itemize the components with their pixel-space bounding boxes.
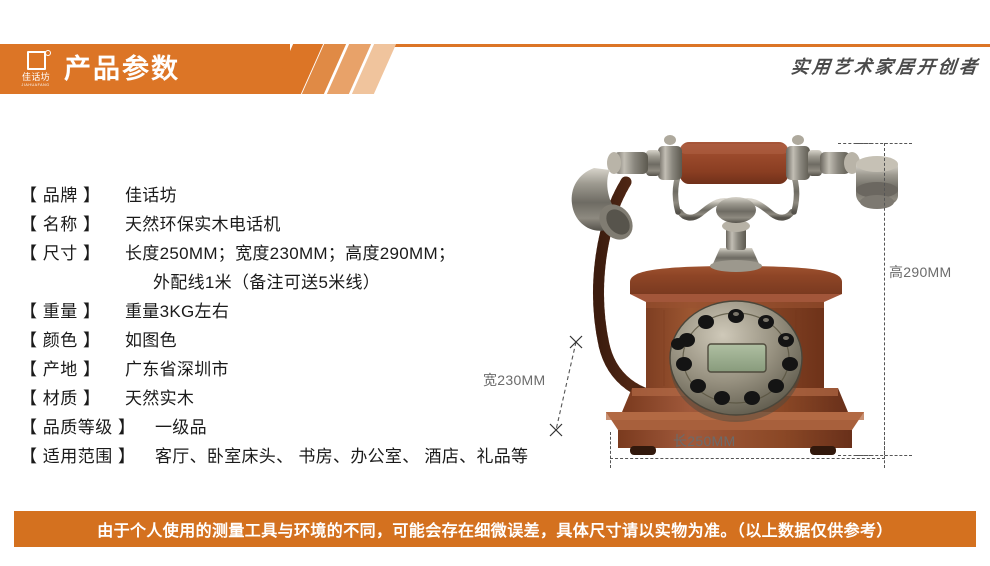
spec-value: 广东省深圳市	[125, 355, 229, 384]
spec-row: 【 名称 】天然环保实木电话机	[20, 210, 580, 239]
spec-value: 一级品	[155, 413, 207, 442]
spec-value: 重量3KG左右	[125, 297, 229, 326]
footer-notice-text: 由于个人使用的测量工具与环境的不同，可能会存在细微误差，具体尺寸请以实物为准。（…	[97, 517, 893, 541]
telephone-dial	[670, 301, 802, 422]
spec-value: 佳话坊	[125, 181, 177, 210]
brand-slogan: 实用艺术家居开创者	[790, 56, 981, 78]
height-dimension-line	[884, 143, 885, 455]
spec-label: 【 重量 】	[20, 297, 125, 326]
spec-row: 【 尺寸 】长度250MM；宽度230MM；高度290MM；	[20, 239, 580, 268]
spec-value: 天然环保实木电话机	[125, 210, 281, 239]
spec-row: 【 品牌 】佳话坊	[20, 181, 580, 210]
height-dimension-label: 高290MM	[889, 262, 951, 282]
logo-chinese-name: 佳话坊	[22, 72, 50, 82]
spec-label: 【 材质 】	[20, 384, 125, 413]
footer-notice-banner: 由于个人使用的测量工具与环境的不同，可能会存在细微误差，具体尺寸请以实物为准。（…	[14, 511, 976, 547]
lcd-display	[708, 344, 766, 372]
spec-label: 【 产地 】	[20, 355, 125, 384]
spec-row: 外配线1米（备注可送5米线）	[20, 268, 580, 297]
spec-value: 如图色	[125, 326, 177, 355]
spec-value: 长度250MM；宽度230MM；高度290MM；	[125, 239, 455, 268]
registered-mark-icon	[45, 50, 51, 56]
length-dimension-label: 长250MM	[673, 431, 735, 451]
width-dimension-label: 宽230MM	[483, 370, 545, 390]
spec-value: 外配线1米（备注可送5米线）	[153, 268, 380, 297]
spec-label: 【 适用范围 】	[20, 442, 155, 471]
spec-label: 【 品质等级 】	[20, 413, 155, 442]
spec-value: 天然实木	[125, 384, 194, 413]
height-bottom-leader	[838, 455, 872, 456]
specification-list: 【 品牌 】佳话坊【 名称 】天然环保实木电话机【 尺寸 】长度250MM；宽度…	[20, 181, 580, 471]
spec-row: 【 重量 】重量3KG左右	[20, 297, 580, 326]
spec-label: 【 名称 】	[20, 210, 125, 239]
spec-row: 【 适用范围 】客厅、卧室床头、 书房、办公室、 酒店、礼品等	[20, 442, 580, 471]
spec-label: 【 尺寸 】	[20, 239, 125, 268]
logo-square-icon	[27, 51, 46, 70]
length-right-tick	[884, 432, 885, 468]
page-title: 产品参数	[64, 54, 180, 84]
spec-value: 客厅、卧室床头、 书房、办公室、 酒店、礼品等	[155, 442, 528, 471]
length-dimension-line	[610, 458, 885, 459]
height-top-leader	[838, 143, 872, 144]
spec-row: 【 颜色 】如图色	[20, 326, 580, 355]
logo-pinyin-name: JIAHUAFANG	[22, 82, 50, 87]
product-spec-page: 佳话坊 JIAHUAFANG 产品参数 实用艺术家居开创者 【 品牌 】佳话坊【…	[0, 0, 990, 566]
brand-logo: 佳话坊 JIAHUAFANG	[12, 48, 60, 90]
spec-label: 【 颜色 】	[20, 326, 125, 355]
spec-label: 【 品牌 】	[20, 181, 125, 210]
width-dimension-arrow	[548, 330, 628, 445]
spec-row: 【 品质等级 】一级品	[20, 413, 580, 442]
